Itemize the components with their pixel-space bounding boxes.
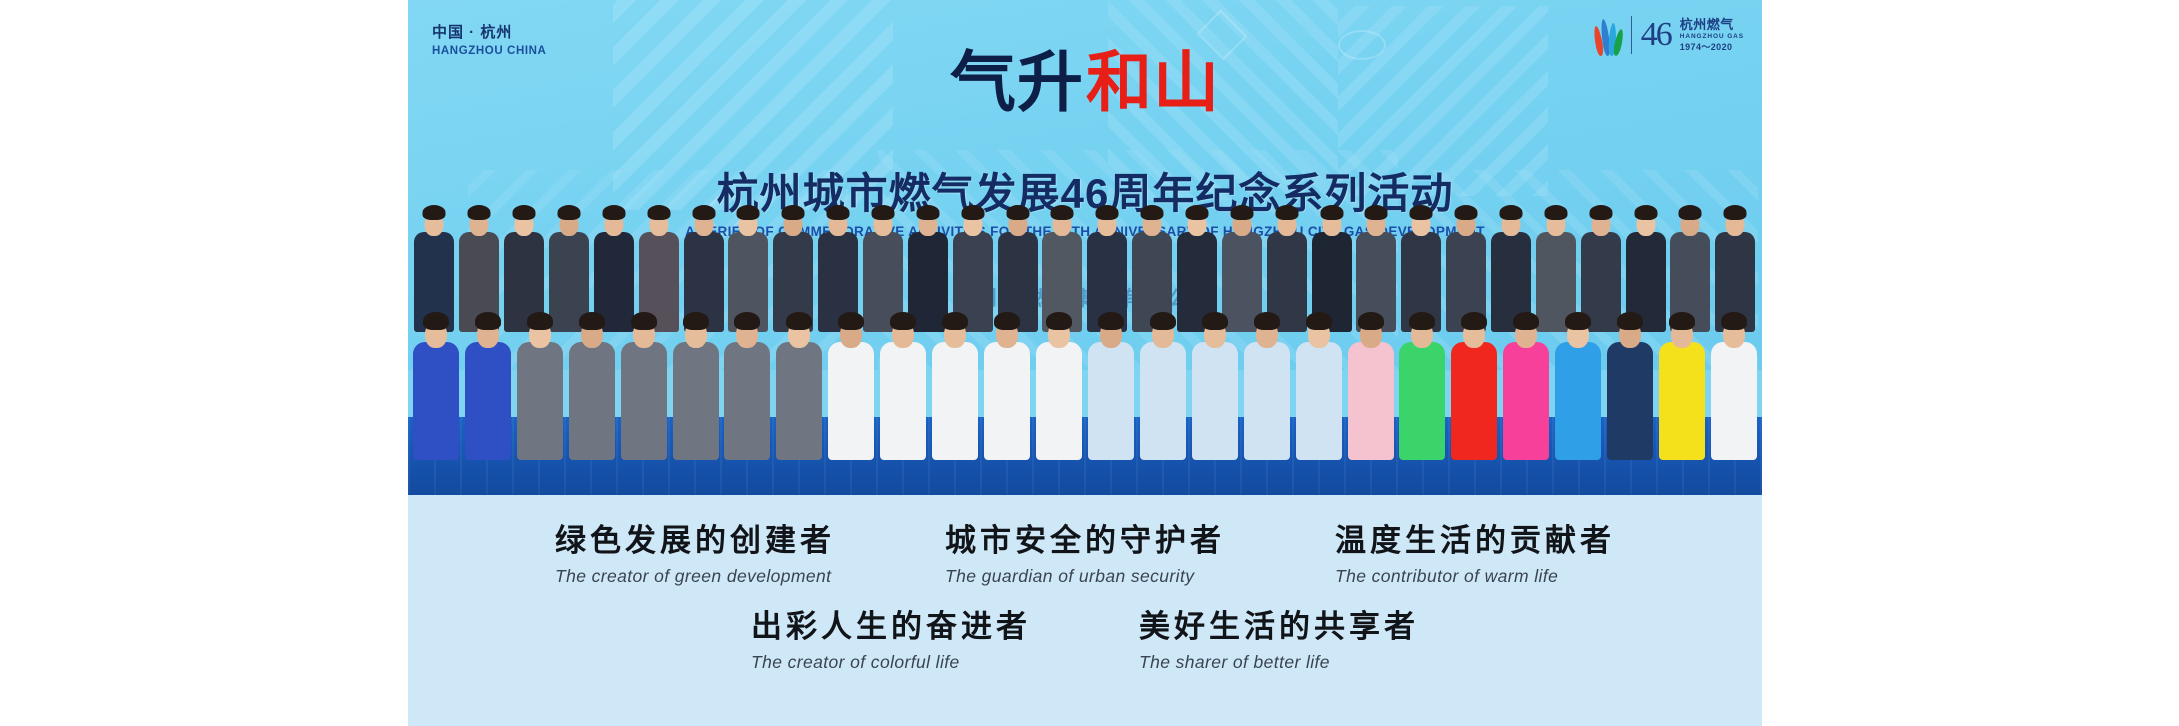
photo-person [514, 274, 566, 460]
person-torso [1244, 342, 1290, 460]
person-hair [468, 205, 491, 220]
slogan-item: 绿色发展的创建者 The creator of green developmen… [555, 523, 835, 587]
person-torso [517, 342, 563, 460]
person-hair [734, 312, 760, 330]
locale-block: 中国 · 杭州 HANGZHOU CHINA [432, 22, 546, 57]
photo-person [825, 274, 877, 460]
photo-person [670, 274, 722, 460]
content-column: 中国 · 杭州 HANGZHOU CHINA 46 杭州燃气 HANGZHOU … [408, 0, 1762, 726]
person-torso [1348, 342, 1394, 460]
photo-person [877, 274, 929, 460]
person-hair [1230, 205, 1253, 220]
poster-root: 中国 · 杭州 HANGZHOU CHINA 46 杭州燃气 HANGZHOU … [0, 0, 2179, 726]
person-hair [1098, 312, 1124, 330]
anniversary-number: 46 [1641, 18, 1671, 52]
locale-en: HANGZHOU CHINA [432, 45, 546, 57]
person-hair [1150, 312, 1176, 330]
brand-text-block: 杭州燃气 HANGZHOU GAS 1974～2020 [1680, 18, 1744, 52]
brand-name-en: HANGZHOU GAS [1680, 33, 1744, 40]
photo-person [722, 274, 774, 460]
slogan-item: 城市安全的守护者 The guardian of urban security [945, 523, 1225, 587]
person-hair [1513, 312, 1539, 330]
person-hair [423, 312, 449, 330]
person-torso [1088, 342, 1134, 460]
photo-person [618, 274, 670, 460]
person-hair [994, 312, 1020, 330]
slogan-row-2: 出彩人生的奋进者 The creator of colorful life 美好… [408, 587, 1762, 673]
person-torso [984, 342, 1030, 460]
person-torso [1451, 342, 1497, 460]
person-hair [579, 312, 605, 330]
person-torso [465, 342, 511, 460]
person-torso [1192, 342, 1238, 460]
person-hair [1669, 312, 1695, 330]
person-hair [961, 205, 984, 220]
photo-person [566, 274, 618, 460]
person-hair [1051, 205, 1074, 220]
person-torso [828, 342, 874, 460]
photo-person [981, 274, 1033, 460]
person-hair [423, 205, 446, 220]
anniversary-logo-lockup: 46 杭州燃气 HANGZHOU GAS 1974～2020 [1595, 14, 1744, 56]
photo-person [462, 274, 514, 460]
group-photo [408, 178, 1762, 495]
photo-person [1708, 274, 1760, 460]
photo-person [1033, 274, 1085, 460]
photo-person [1189, 274, 1241, 460]
photo-person [1345, 274, 1397, 460]
photo-person [1137, 274, 1189, 460]
person-hair [786, 312, 812, 330]
photo-person [1293, 274, 1345, 460]
person-torso [1659, 342, 1705, 460]
person-hair [1306, 312, 1332, 330]
photo-person [1241, 274, 1293, 460]
person-hair [827, 205, 850, 220]
person-hair [1617, 312, 1643, 330]
slogan-cn: 出彩人生的奋进者 [751, 609, 1031, 647]
person-hair [1724, 205, 1747, 220]
title-art-red: 和山 [1086, 50, 1220, 116]
person-torso [1607, 342, 1653, 460]
slogan-cn: 美好生活的共享者 [1139, 609, 1419, 647]
person-hair [942, 312, 968, 330]
person-hair [872, 205, 895, 220]
person-hair [1634, 205, 1657, 220]
person-torso [673, 342, 719, 460]
person-torso [880, 342, 926, 460]
person-hair [1544, 205, 1567, 220]
person-hair [1365, 205, 1388, 220]
hero-banner: 中国 · 杭州 HANGZHOU CHINA 46 杭州燃气 HANGZHOU … [408, 0, 1762, 495]
slogan-en: The sharer of better life [1139, 652, 1419, 673]
slogan-panel: 绿色发展的创建者 The creator of green developmen… [408, 495, 1762, 726]
bubble-motif-icon [1338, 30, 1386, 60]
person-hair [1721, 312, 1747, 330]
slogan-cn: 城市安全的守护者 [945, 523, 1225, 561]
person-torso [1140, 342, 1186, 460]
photo-person [1085, 274, 1137, 460]
slogan-en: The creator of colorful life [751, 652, 1031, 673]
person-torso [1399, 342, 1445, 460]
slogan-row-1: 绿色发展的创建者 The creator of green developmen… [408, 495, 1762, 587]
person-hair [1679, 205, 1702, 220]
person-hair [1455, 205, 1478, 220]
person-hair [1358, 312, 1384, 330]
person-hair [527, 312, 553, 330]
photo-person [773, 274, 825, 460]
person-torso [724, 342, 770, 460]
logo-divider [1631, 16, 1632, 54]
person-hair [1254, 312, 1280, 330]
locale-cn: 中国 · 杭州 [432, 22, 546, 45]
person-torso [1296, 342, 1342, 460]
person-torso [621, 342, 667, 460]
slogan-item: 美好生活的共享者 The sharer of better life [1139, 609, 1419, 673]
person-hair [1410, 205, 1433, 220]
brand-years: 1974～2020 [1680, 42, 1744, 52]
person-hair [631, 312, 657, 330]
person-hair [1409, 312, 1435, 330]
person-hair [1589, 205, 1612, 220]
person-torso [1503, 342, 1549, 460]
photo-person [929, 274, 981, 460]
person-torso [776, 342, 822, 460]
person-torso [413, 342, 459, 460]
photo-person [1604, 274, 1656, 460]
person-hair [1320, 205, 1343, 220]
person-hair [1202, 312, 1228, 330]
person-torso [569, 342, 615, 460]
person-torso [1711, 342, 1757, 460]
person-hair [1006, 205, 1029, 220]
photo-person [410, 274, 462, 460]
person-hair [1461, 312, 1487, 330]
person-torso [1555, 342, 1601, 460]
person-hair [782, 205, 805, 220]
photo-person [1500, 274, 1552, 460]
photo-person [1656, 274, 1708, 460]
slogan-en: The contributor of warm life [1335, 566, 1615, 587]
person-hair [737, 205, 760, 220]
slogan-cn: 温度生活的贡献者 [1335, 523, 1615, 561]
gas-flame-icon [1595, 14, 1622, 56]
person-hair [683, 312, 709, 330]
person-hair [513, 205, 536, 220]
person-hair [558, 205, 581, 220]
person-hair [838, 312, 864, 330]
title-art-dark: 气升 [950, 50, 1084, 116]
slogan-item: 出彩人生的奋进者 The creator of colorful life [751, 609, 1031, 673]
person-torso [1036, 342, 1082, 460]
person-hair [1565, 312, 1591, 330]
brand-name-cn: 杭州燃气 [1680, 18, 1744, 33]
person-torso [932, 342, 978, 460]
slogan-en: The guardian of urban security [945, 566, 1225, 587]
stylized-title-art: 气升 和山 [950, 50, 1220, 116]
person-hair [1275, 205, 1298, 220]
slogan-en: The creator of green development [555, 566, 835, 587]
slogan-item: 温度生活的贡献者 The contributor of warm life [1335, 523, 1615, 587]
person-hair [692, 205, 715, 220]
photo-front-row [408, 274, 1762, 460]
photo-person [1397, 274, 1449, 460]
person-hair [890, 312, 916, 330]
slogan-cn: 绿色发展的创建者 [555, 523, 835, 561]
photo-person [1448, 274, 1500, 460]
photo-person [1552, 274, 1604, 460]
person-hair [1141, 205, 1164, 220]
person-hair [1500, 205, 1523, 220]
person-hair [647, 205, 670, 220]
person-hair [475, 312, 501, 330]
person-hair [1046, 312, 1072, 330]
person-hair [1186, 205, 1209, 220]
person-hair [602, 205, 625, 220]
person-hair [916, 205, 939, 220]
person-hair [1096, 205, 1119, 220]
